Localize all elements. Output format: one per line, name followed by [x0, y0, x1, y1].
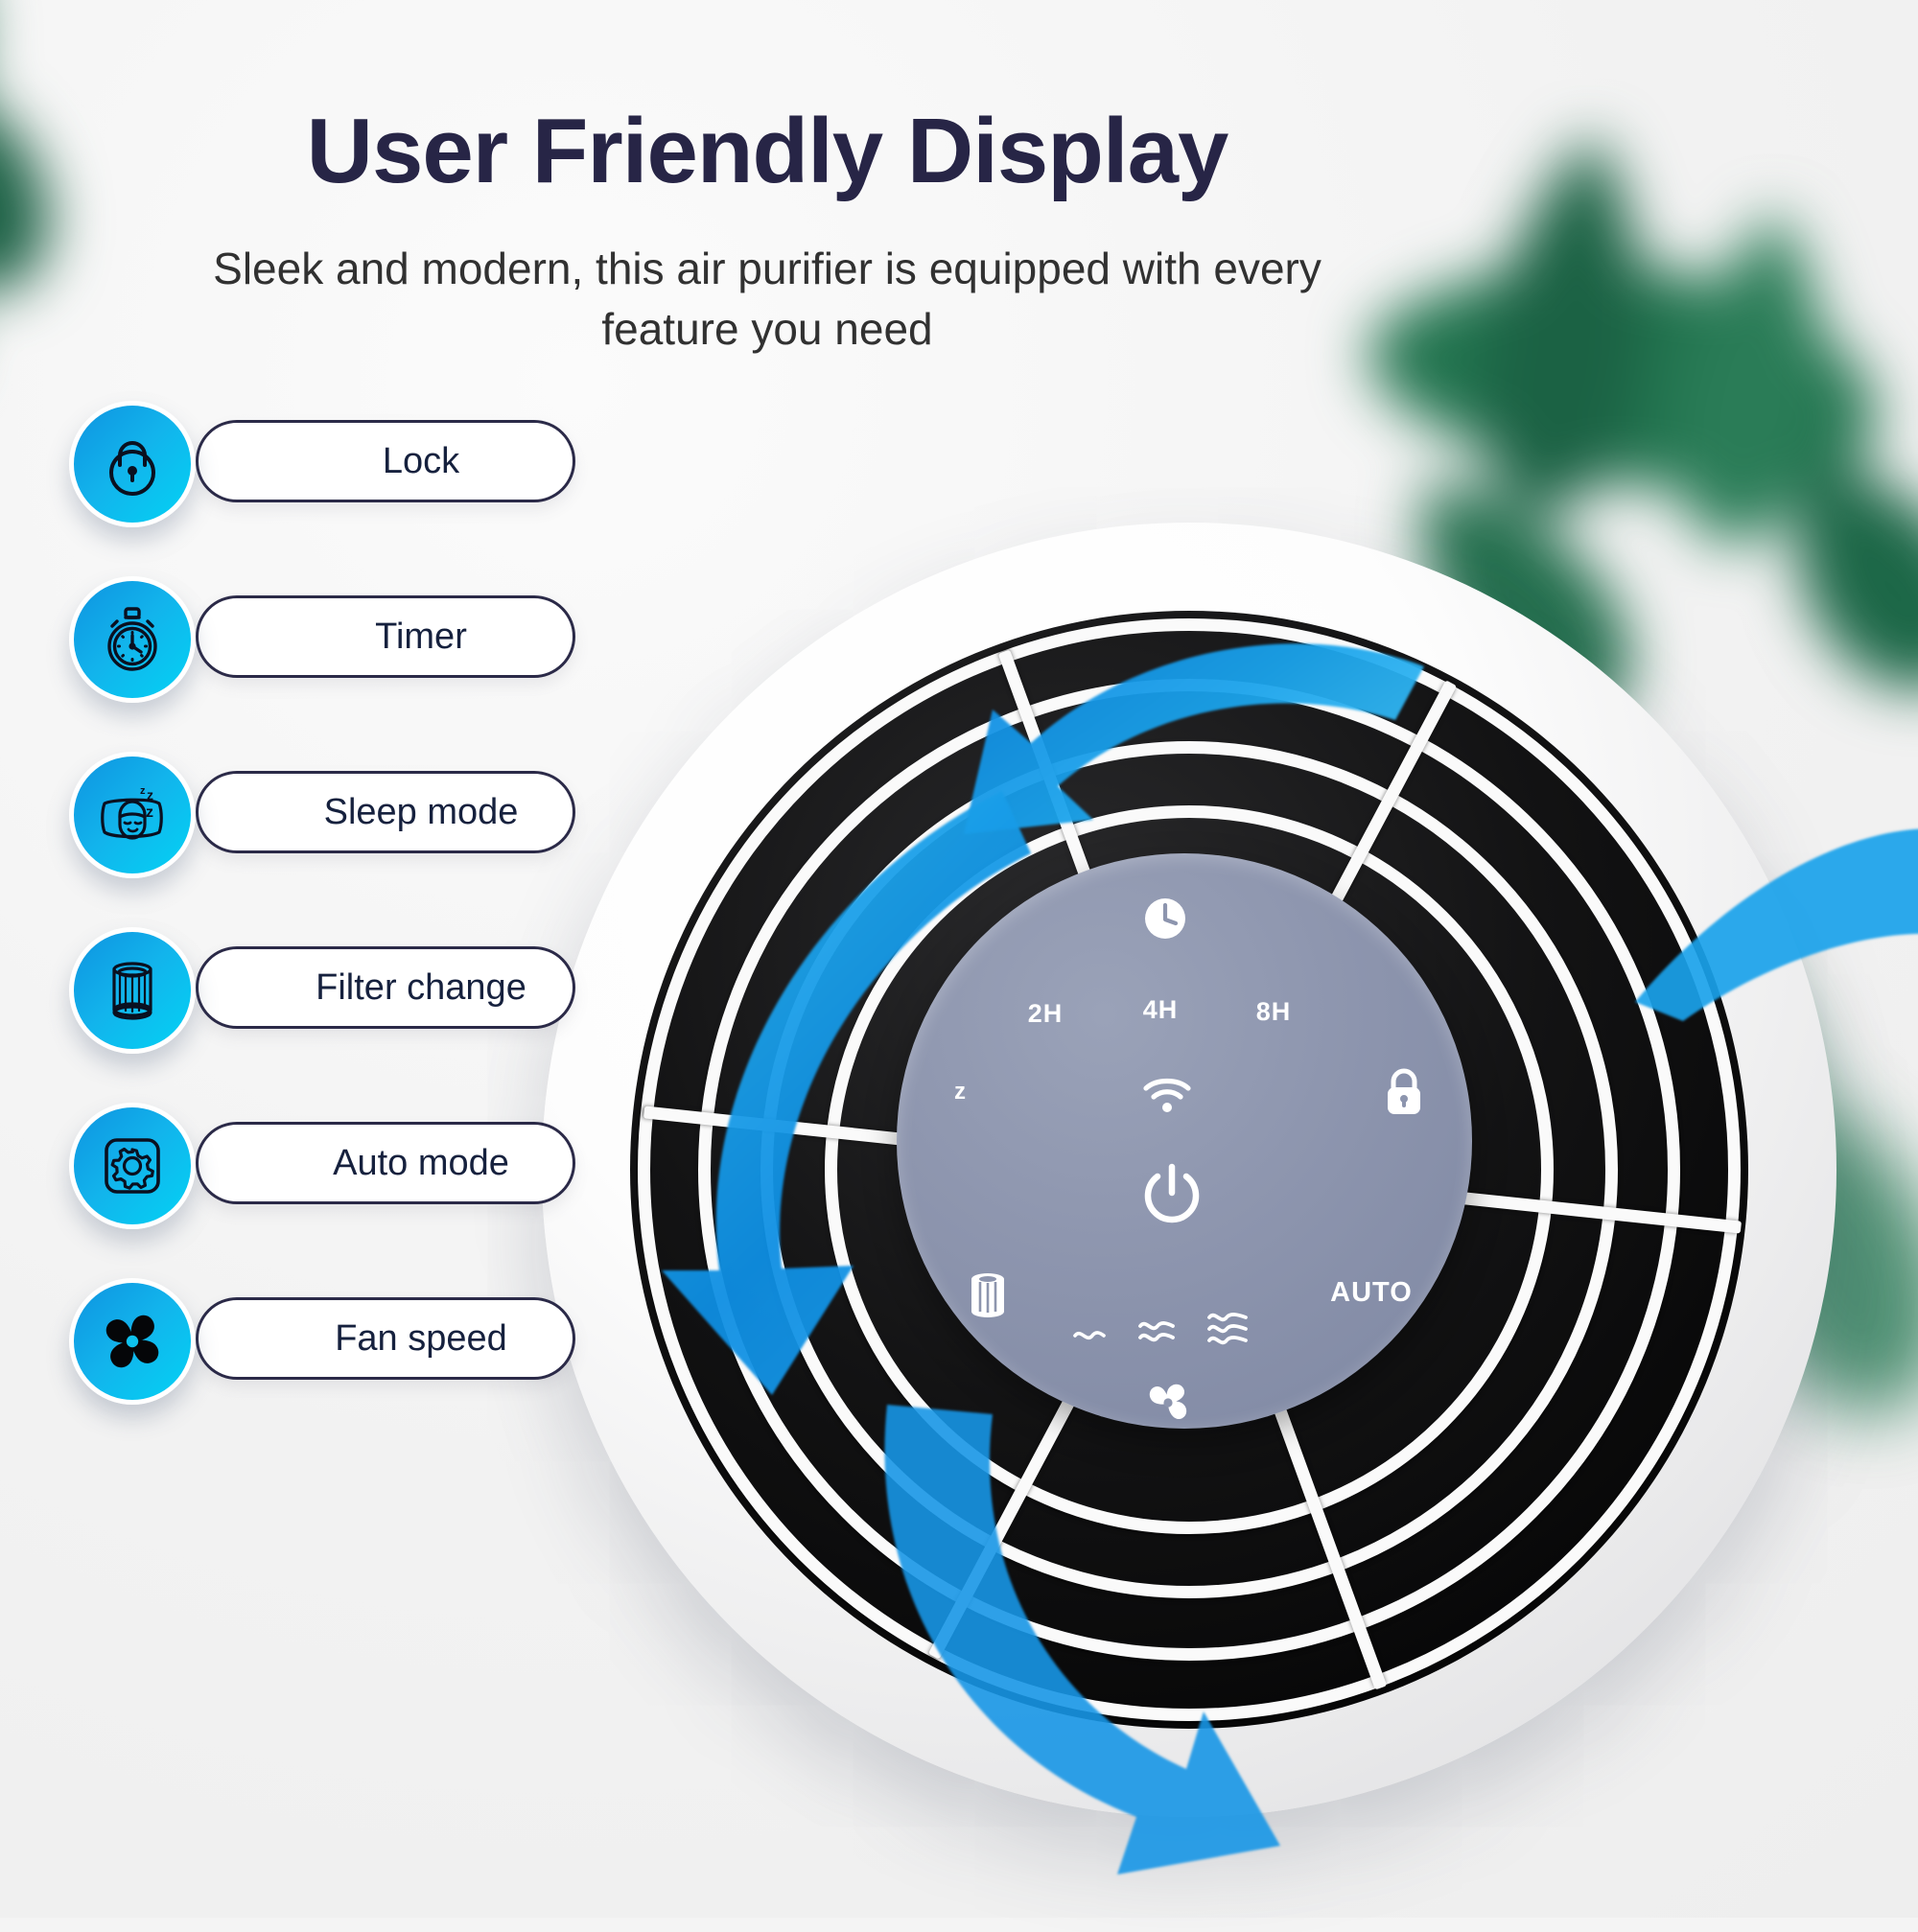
panel-sleep-moon-z-icon[interactable]: z [914, 1062, 985, 1122]
feature-icon-circle-lock [69, 401, 196, 527]
feature-pill-sleep-mode[interactable]: Sleep mode [196, 771, 575, 853]
feature-label: Fan speed [264, 1318, 507, 1360]
feature-item-auto-mode[interactable]: Auto mode [69, 1103, 644, 1223]
panel-fan-speed-high-icon[interactable] [1202, 1306, 1253, 1354]
panel-timer-option-8h[interactable]: 8H [1240, 993, 1307, 1030]
svg-text:z: z [954, 1079, 966, 1105]
svg-text:z: z [140, 785, 146, 797]
feature-pill-lock[interactable]: Lock [196, 420, 575, 502]
feature-icon-circle-auto-mode [69, 1103, 196, 1229]
feature-pill-filter-change[interactable]: Filter change [196, 946, 575, 1029]
feature-label: Timer [304, 617, 467, 658]
feature-icon-circle-sleep-mode: z z z [69, 752, 196, 878]
feature-pill-timer[interactable]: Timer [196, 595, 575, 678]
panel-timer-clock-icon[interactable] [1138, 892, 1192, 945]
feature-item-timer[interactable]: Timer [69, 576, 644, 697]
gear-in-square-icon [95, 1129, 170, 1203]
feature-pill-auto-mode[interactable]: Auto mode [196, 1122, 575, 1204]
feature-icon-circle-fan-speed [69, 1278, 196, 1405]
panel-lock-icon[interactable] [1376, 1062, 1432, 1122]
control-panel[interactable]: 2H 4H 8H z [897, 853, 1472, 1429]
feature-icon-circle-timer [69, 576, 196, 703]
panel-auto-label[interactable]: AUTO [1319, 1273, 1424, 1312]
padlock-icon [95, 427, 170, 501]
svg-text:z: z [147, 787, 153, 803]
feature-item-sleep-mode[interactable]: Sleep mode z z z [69, 752, 644, 873]
panel-fan-speed-low-icon[interactable] [1067, 1317, 1111, 1352]
feature-item-fan-speed[interactable]: Fan speed [69, 1278, 644, 1399]
panel-wifi-icon[interactable] [1139, 1074, 1195, 1118]
svg-text:z: z [146, 804, 153, 821]
panel-power-icon[interactable] [1134, 1158, 1209, 1233]
filter-cartridge-icon [94, 952, 171, 1029]
panel-timer-option-4h[interactable]: 4H [1127, 991, 1194, 1028]
feature-label: Filter change [245, 967, 526, 1009]
page-subtitle: Sleek and modern, this air purifier is e… [201, 239, 1333, 361]
stopwatch-icon [94, 601, 171, 678]
fan-blades-icon [94, 1303, 171, 1380]
airflow-arrow-right [1616, 714, 1918, 1021]
air-purifier-product-photo: 2H 4H 8H z [542, 523, 1918, 1932]
feature-item-lock[interactable]: Lock [69, 401, 644, 522]
feature-icon-circle-filter-change [69, 927, 196, 1054]
panel-fan-icon[interactable] [1138, 1373, 1198, 1432]
feature-label: Auto mode [262, 1143, 509, 1184]
feature-label: Lock [312, 441, 459, 482]
feature-pill-fan-speed[interactable]: Fan speed [196, 1297, 575, 1380]
sleeping-face-pillow-icon: z z z [92, 775, 173, 855]
feature-item-filter-change[interactable]: Filter change [69, 927, 644, 1048]
panel-filter-icon[interactable] [954, 1266, 1021, 1327]
feature-label: Sleep mode [253, 792, 519, 833]
panel-fan-speed-medium-icon[interactable] [1133, 1312, 1181, 1352]
airflow-arrow-bottom [830, 1366, 1367, 1884]
panel-timer-option-2h[interactable]: 2H [1012, 995, 1079, 1032]
page-title: User Friendly Display [0, 104, 1534, 200]
header: User Friendly Display Sleek and modern, … [0, 0, 1534, 361]
feature-list: Lock Timer [69, 401, 644, 1454]
